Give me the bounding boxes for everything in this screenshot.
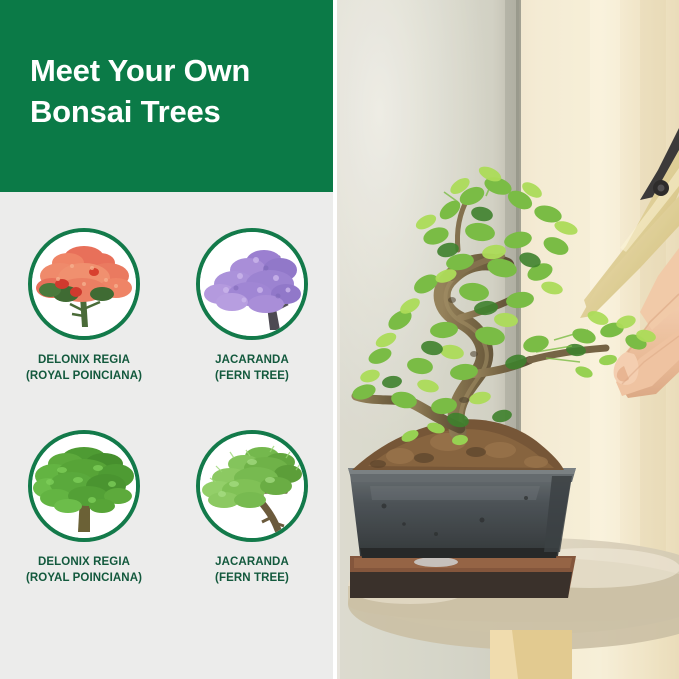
tree-thumbnail-jacaranda-purple [196,228,308,340]
species-caption-0: DELONIX REGIA (ROYAL POINCIANA) [0,352,168,384]
bonsai-lifestyle-photo [340,0,679,679]
purple-flowering-tree-art [200,232,304,336]
left-info-panel: Meet Your Own Bonsai Trees [0,0,337,679]
species-card-0[interactable]: DELONIX REGIA (ROYAL POINCIANA) [0,228,168,384]
species-caption-1: JACARANDA (FERN TREE) [168,352,336,384]
tree-thumbnail-jacaranda-green [196,430,308,542]
header-band: Meet Your Own Bonsai Trees [0,0,333,192]
bonsai-photo-art [340,0,679,679]
product-listing-image: Meet Your Own Bonsai Trees [0,0,679,679]
orange-flowering-tree-art [32,232,136,336]
species-card-2[interactable]: DELONIX REGIA (ROYAL POINCIANA) [0,430,168,586]
tree-thumbnail-delonix-regia-orange [28,228,140,340]
green-pine-bonsai-tree-art [200,434,304,538]
species-caption-3: JACARANDA (FERN TREE) [168,554,336,586]
species-card-1[interactable]: JACARANDA (FERN TREE) [168,228,336,384]
species-grid: DELONIX REGIA (ROYAL POINCIANA) [0,200,337,640]
species-card-3[interactable]: JACARANDA (FERN TREE) [168,430,336,586]
species-caption-2: DELONIX REGIA (ROYAL POINCIANA) [0,554,168,586]
page-title: Meet Your Own Bonsai Trees [30,50,320,132]
tree-thumbnail-delonix-regia-green [28,430,140,542]
green-broadleaf-tree-art [32,434,136,538]
